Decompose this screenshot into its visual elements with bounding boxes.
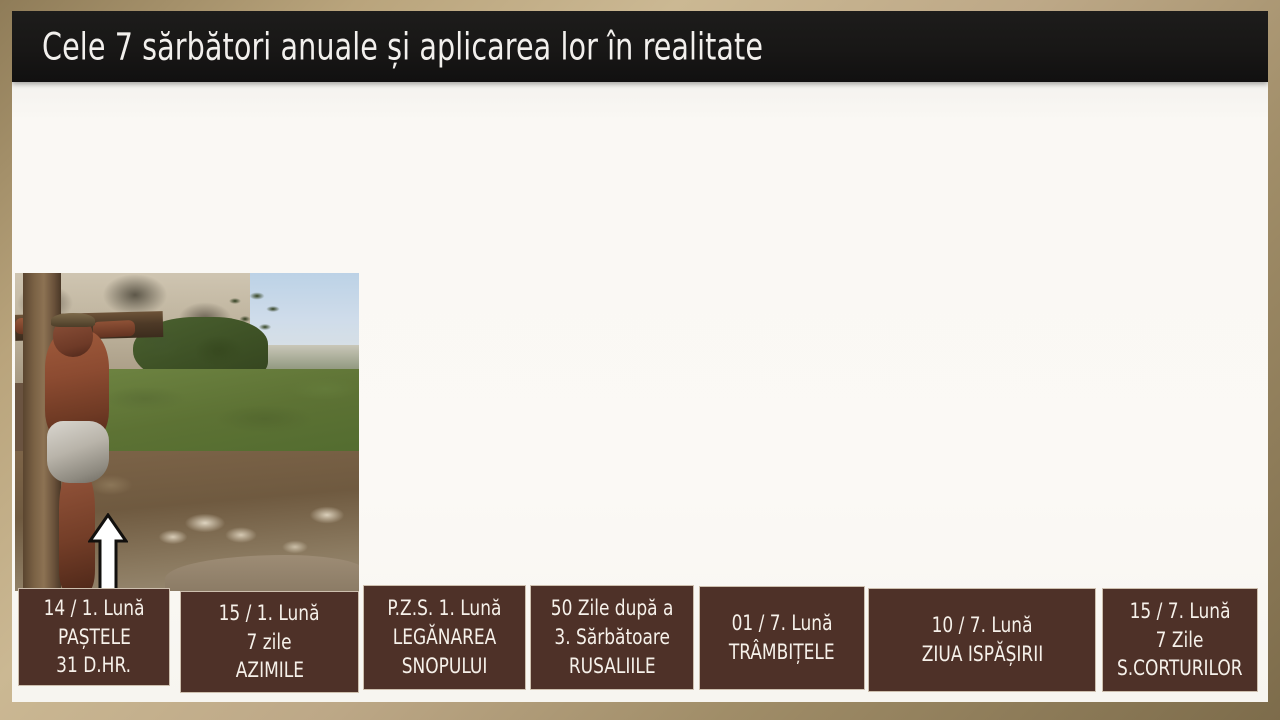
festival-line: 7 zile [247,628,292,657]
slide-title-bar: Cele 7 sărbători anuale și aplicarea lor… [12,11,1268,82]
festival-box-sarbatoarea-corturilor[interactable]: 15 / 7. Lună 7 Zile S.CORTURILOR [1102,588,1258,692]
festival-line: 3. Sărbătoare [554,623,670,652]
page-title: Cele 7 sărbători anuale și aplicarea lor… [42,25,763,68]
festival-line: ZIUA ISPĂȘIRII [921,640,1042,669]
festival-line: 01 / 7. Lună [732,609,833,638]
festival-box-azimile[interactable]: 15 / 1. Lună 7 zile AZIMILE [180,591,359,693]
festival-box-ziua-ispasirii[interactable]: 10 / 7. Lună ZIUA ISPĂȘIRII [868,588,1096,692]
festival-box-rusaliile[interactable]: 50 Zile după a 3. Sărbătoare RUSALIILE [530,585,694,690]
festival-line: TRÂMBIȚELE [729,638,835,667]
festival-line: LEGĂNAREA [393,623,497,652]
festival-line: 15 / 1. Lună [219,599,320,628]
crown-of-thorns [51,313,95,327]
festival-line: P.Z.S. 1. Lună [387,594,501,623]
festival-line: 15 / 7. Lună [1130,597,1231,626]
festival-line: 7 Zile [1156,626,1204,655]
festival-line: RUSALIILE [569,652,656,681]
festival-box-leganarea-snopului[interactable]: P.Z.S. 1. Lună LEGĂNAREA SNOPULUI [363,585,526,690]
festival-line: 10 / 7. Lună [932,611,1033,640]
crucifixion-photo [15,273,359,591]
festival-line: SNOPULUI [402,652,488,681]
festival-box-pastele[interactable]: 14 / 1. Lună PAȘTELE 31 D.HR. [18,588,170,686]
festival-line: AZIMILE [235,656,303,685]
festival-line: 31 D.HR. [57,651,132,680]
slide-surface: Cele 7 sărbători anuale și aplicarea lor… [12,11,1268,702]
figure-right-arm [93,320,136,338]
festival-line: PAȘTELE [58,623,131,652]
festival-line: 14 / 1. Lună [44,594,145,623]
photo-tree [221,289,285,351]
festival-line: S.CORTURILOR [1117,654,1243,683]
presentation-backdrop: Cele 7 sărbători anuale și aplicarea lor… [0,0,1280,720]
festival-box-trambitele[interactable]: 01 / 7. Lună TRÂMBIȚELE [699,586,865,690]
figure-loincloth [47,421,109,483]
festival-line: 50 Zile după a [551,594,674,623]
